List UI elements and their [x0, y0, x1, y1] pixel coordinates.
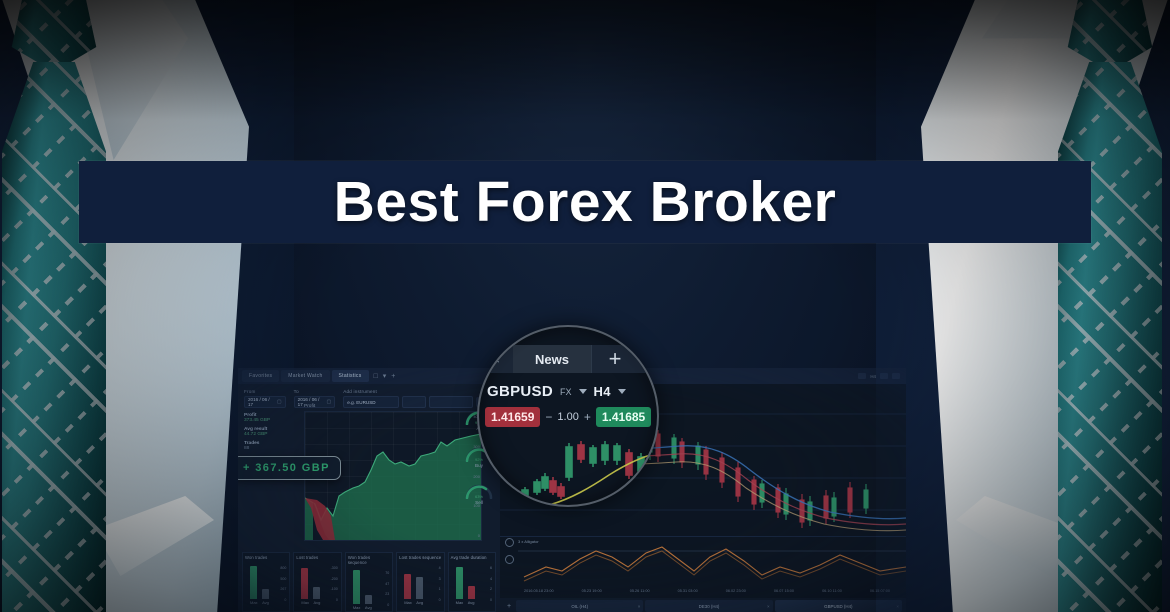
stat-card-plot: -300 -200 -100 0	[296, 561, 338, 599]
stat-value: 88	[244, 446, 300, 451]
scale-tick: 2	[490, 587, 492, 591]
close-icon[interactable]: ×	[767, 604, 770, 609]
chart-tab-oil[interactable]: OIL (H4) ×	[516, 600, 643, 612]
stat-card-won-trades: Won trades 800 500 267 0 Max Avg	[242, 552, 290, 612]
label-avg: Avg	[313, 600, 320, 605]
scale-tick: 70	[385, 571, 389, 575]
label-avg: Avg	[365, 605, 372, 610]
time-tick: 05.26 11:00	[630, 589, 650, 597]
timeframe-label[interactable]: H4	[870, 374, 876, 379]
page-title: Best Forex Broker	[334, 169, 837, 235]
from-label: From	[244, 389, 286, 394]
time-axis: 2016.05.18 23:00 05.23 19:00 05.26 11:00…	[500, 589, 906, 597]
tie-shading	[1062, 0, 1158, 72]
chart-tools	[502, 538, 516, 564]
from-input[interactable]: 2016 / 06 / 17 ▢	[244, 396, 286, 408]
add-tab-icon[interactable]: +	[591, 345, 638, 373]
scale-tick: 4	[439, 566, 441, 570]
symbol-label: GBPUSD	[487, 383, 553, 400]
stat-card-plot: 6 4 2 0	[451, 561, 493, 599]
chevron-down-icon[interactable]	[579, 389, 587, 394]
to-label: To	[294, 389, 336, 394]
tie-shading	[1058, 62, 1162, 612]
market-type-label[interactable]: FX	[560, 387, 572, 397]
label-max: Max	[301, 600, 308, 605]
close-icon[interactable]: ×	[479, 352, 513, 367]
necktie-left	[0, 0, 142, 612]
stat-card-lost-sequence: Lost trades sequence 4 3 1 0 Max Av	[396, 552, 444, 612]
buy-price[interactable]: 1.41685	[596, 407, 651, 427]
chart-tab-label: GBPUSD (H4)	[824, 604, 852, 609]
toolbar-button[interactable]	[880, 373, 888, 379]
label-max: Max	[456, 600, 463, 605]
sell-price[interactable]: 1.41659	[485, 407, 540, 427]
time-tick: 05.23 19:00	[582, 589, 602, 597]
close-icon[interactable]: ×	[896, 604, 899, 609]
scale-tick: 0	[331, 598, 338, 602]
magnified-tabbar: × News +	[479, 345, 657, 373]
scale-tick: 800	[280, 566, 286, 570]
scale-tick: 0	[385, 603, 389, 607]
stat-card-title: Lost trades	[296, 555, 338, 560]
stat-value: 373.45 GBP	[244, 418, 300, 423]
timeframe-label[interactable]: H4	[594, 384, 611, 399]
tie-knot-right	[1062, 0, 1158, 72]
chevron-down-icon[interactable]: ▾	[383, 372, 387, 380]
increase-volume-icon[interactable]: +	[584, 410, 591, 424]
settings-icon[interactable]	[505, 538, 514, 547]
add-instrument-label: Add instrument	[343, 389, 494, 394]
scale-tick: -100	[331, 587, 338, 591]
volume-value[interactable]: 1.00	[557, 411, 578, 423]
toolbar-button[interactable]	[892, 373, 900, 379]
stat-card-avg-duration: Avg trade duration 6 4 2 0 Max Avg	[448, 552, 496, 612]
add-tab-icon[interactable]: +	[391, 373, 395, 380]
symbol-row: GBPUSD FX H4	[487, 383, 626, 400]
stat-card-plot: 70 47 23 0	[348, 566, 390, 604]
chart-tabbar: + OIL (H4) × DE30 (H4) × GBPUSD (H4) ×	[500, 598, 906, 612]
scale-tick: 0	[439, 598, 441, 602]
stat-card-title: Won trades sequence	[348, 555, 390, 565]
share-icon[interactable]	[505, 555, 514, 564]
time-tick: 05.31 03:00	[678, 589, 698, 597]
chart-tab-label: OIL (H4)	[571, 604, 588, 609]
indicator-subchart: 3 x Alligator	[500, 536, 906, 585]
bottom-stats-row: Won trades 800 500 267 0 Max Avg	[242, 552, 496, 612]
chevron-down-icon[interactable]	[618, 389, 626, 394]
tie-shading	[6, 0, 102, 72]
stat-card-title: Lost trades sequence	[399, 555, 441, 560]
stat-card-plot: 4 3 1 0	[399, 561, 441, 599]
scale-tick: 4	[490, 577, 492, 581]
tab-statistics[interactable]: Statistics	[332, 370, 369, 382]
scale-tick: 0	[490, 598, 492, 602]
decrease-volume-icon[interactable]: −	[545, 410, 552, 424]
toolbar-button[interactable]	[858, 373, 866, 379]
tab-news[interactable]: News	[513, 345, 591, 373]
tab-market-watch[interactable]: Market Watch	[281, 370, 329, 382]
tie-blade-left	[2, 62, 106, 612]
statistics-dashboard: Favorites Market Watch Statistics □ ▾ + …	[238, 368, 500, 612]
chart-tab-label: DE30 (H4)	[699, 604, 720, 609]
dashboard-tabbar: Favorites Market Watch Statistics □ ▾ +	[238, 368, 500, 384]
stat-card-scale: 6 4 2 0	[490, 566, 492, 602]
close-icon[interactable]: ×	[638, 604, 641, 609]
magnifier-content: × News + GBPUSD FX H4 1.41659 − 1.00 + 1…	[479, 327, 657, 505]
stat-card-xlabels: Max Avg	[451, 600, 493, 605]
label-avg: Avg	[468, 600, 475, 605]
chart-tab-de30[interactable]: DE30 (H4) ×	[645, 600, 772, 612]
tie-shading	[2, 62, 106, 612]
bar-max	[250, 566, 257, 599]
bar-avg	[468, 586, 475, 599]
axis-tick: 0	[478, 533, 480, 538]
poster: Favorites Market Watch Statistics □ ▾ + …	[0, 0, 1170, 612]
scale-tick: 47	[385, 582, 389, 586]
bar-avg	[262, 589, 269, 599]
from-value: 2016 / 06 / 17	[248, 397, 274, 407]
window-icon[interactable]: □	[374, 373, 378, 380]
time-tick: 2016.05.18 23:00	[524, 589, 554, 597]
bar-max	[456, 567, 463, 599]
label-avg: Avg	[262, 600, 269, 605]
time-tick: 06.15 07:00	[870, 589, 890, 597]
label-avg: Avg	[416, 600, 423, 605]
stat-card-lost-trades: Lost trades -300 -200 -100 0 Max Av	[293, 552, 341, 612]
scale-tick: 500	[280, 577, 286, 581]
stat-card-xlabels: Max Avg	[348, 605, 390, 610]
scale-tick: -200	[331, 577, 338, 581]
scale-tick: 1	[439, 587, 441, 591]
stat-card-scale: 800 500 267 0	[280, 566, 286, 602]
scale-tick: -300	[331, 566, 338, 570]
stat-card-title: Won trades	[245, 555, 287, 560]
stat-card-scale: -300 -200 -100 0	[331, 566, 338, 602]
tab-favorites[interactable]: Favorites	[242, 370, 279, 382]
chart-tab-gbpusd[interactable]: GBPUSD (H4) ×	[775, 600, 902, 612]
stat-value: 44.72 GBP	[244, 432, 300, 437]
stat-card-scale: 4 3 1 0	[439, 566, 441, 602]
add-chart-icon[interactable]: +	[504, 603, 514, 610]
title-banner: Best Forex Broker	[79, 161, 1091, 243]
person-right	[876, 0, 1170, 612]
magnified-candles	[479, 435, 657, 505]
time-tick: 06.10 11:00	[822, 589, 842, 597]
scale-tick: 0	[280, 598, 286, 602]
stat-card-title: Avg trade duration	[451, 555, 493, 560]
stat-card-won-sequence: Won trades sequence 70 47 23 0 Max	[345, 552, 393, 612]
quote-row: 1.41659 − 1.00 + 1.41685	[485, 407, 651, 427]
bar-max	[301, 568, 308, 599]
magnifier-lens: × News + GBPUSD FX H4 1.41659 − 1.00 + 1…	[477, 325, 659, 507]
label-max: Max	[353, 605, 360, 610]
scale-tick: 23	[385, 592, 389, 596]
summary-stats: Profit 373.45 GBP Avg result 44.72 GBP T…	[244, 413, 300, 451]
scale-tick: 3	[439, 577, 441, 581]
label-max: Max	[404, 600, 411, 605]
from-field: From 2016 / 06 / 17 ▢	[244, 389, 286, 408]
time-tick: 06.07 15:00	[774, 589, 794, 597]
stat-card-xlabels: Max Avg	[399, 600, 441, 605]
necktie-right	[1028, 0, 1170, 612]
profit-badge: + 367.50 GBP	[238, 456, 341, 480]
bar-avg	[416, 577, 423, 599]
label-max: Max	[250, 600, 257, 605]
scale-tick: 6	[490, 566, 492, 570]
scale-tick: 267	[280, 587, 286, 591]
bar-avg	[313, 587, 320, 599]
stat-card-scale: 70 47 23 0	[385, 571, 389, 607]
bar-max	[404, 574, 411, 599]
tie-knot-left	[6, 0, 102, 72]
bar-avg	[365, 595, 372, 604]
bar-max	[353, 570, 360, 604]
time-tick: 06.02 23:00	[726, 589, 746, 597]
stat-card-plot: 800 500 267 0	[245, 561, 287, 599]
calendar-icon[interactable]: ▢	[277, 399, 282, 405]
tie-blade-right	[1058, 62, 1162, 612]
